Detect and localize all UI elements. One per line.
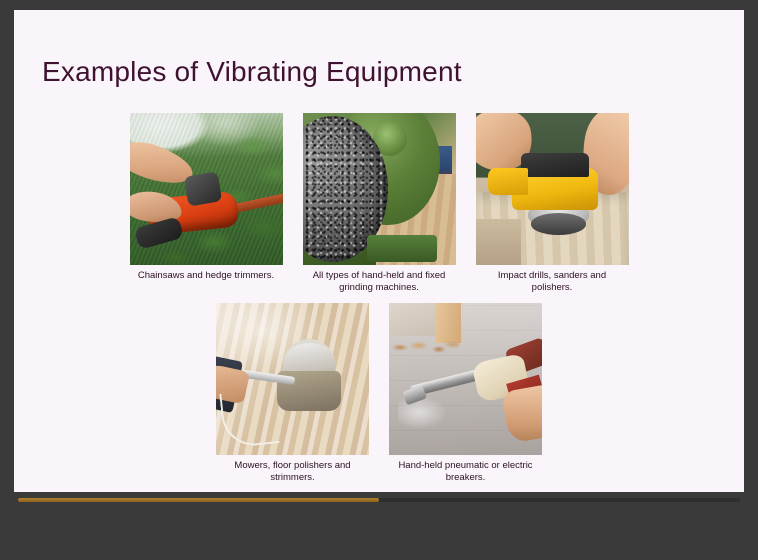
player-footer: Page 9 of 18 50% Completed Prev Next [0,492,758,560]
equipment-card-3: Impact drills, sanders and polishers. [476,113,629,294]
rubble-debris [392,336,459,354]
bench-grinder-photo [303,113,456,265]
floor-polisher-photo [216,303,369,455]
page-title: Examples of Vibrating Equipment [42,56,462,88]
equipment-card-5: Hand-held pneumatic or electric breakers… [389,303,542,484]
door-panel [389,303,438,336]
wood-plank-edge [476,219,522,265]
course-player-window: Examples of Vibrating Equipment Chainsaw… [0,0,758,560]
progress-bar-fill [18,498,379,502]
progress-bar-track[interactable] [18,498,740,502]
equipment-card-1: Chainsaws and hedge trimmers. [130,113,283,294]
equipment-caption: Hand-held pneumatic or electric breakers… [389,460,542,484]
equipment-caption: All types of hand-held and fixed grindin… [303,270,456,294]
trimmer-handle [183,171,222,206]
equipment-card-4: Mowers, floor polishers and strimmers. [216,303,369,484]
sander-vent-cover [521,153,588,177]
sander-pad-base [531,213,586,234]
grinder-base [367,235,437,262]
sander-front-grip [488,168,528,195]
equipment-caption: Impact drills, sanders and polishers. [476,270,629,294]
equipment-row-top: Chainsaws and hedge trimmers. All types … [14,113,744,294]
equipment-row-bottom: Mowers, floor polishers and strimmers. [14,303,744,484]
equipment-card-2: All types of hand-held and fixed grindin… [303,113,456,294]
hedge-trimmer-photo [130,113,283,265]
equipment-caption: Mowers, floor polishers and strimmers. [216,460,369,484]
slide-stage: Examples of Vibrating Equipment Chainsaw… [14,10,744,492]
pneumatic-breaker-photo [389,303,542,455]
equipment-caption: Chainsaws and hedge trimmers. [130,270,283,282]
orbital-sander-photo [476,113,629,265]
